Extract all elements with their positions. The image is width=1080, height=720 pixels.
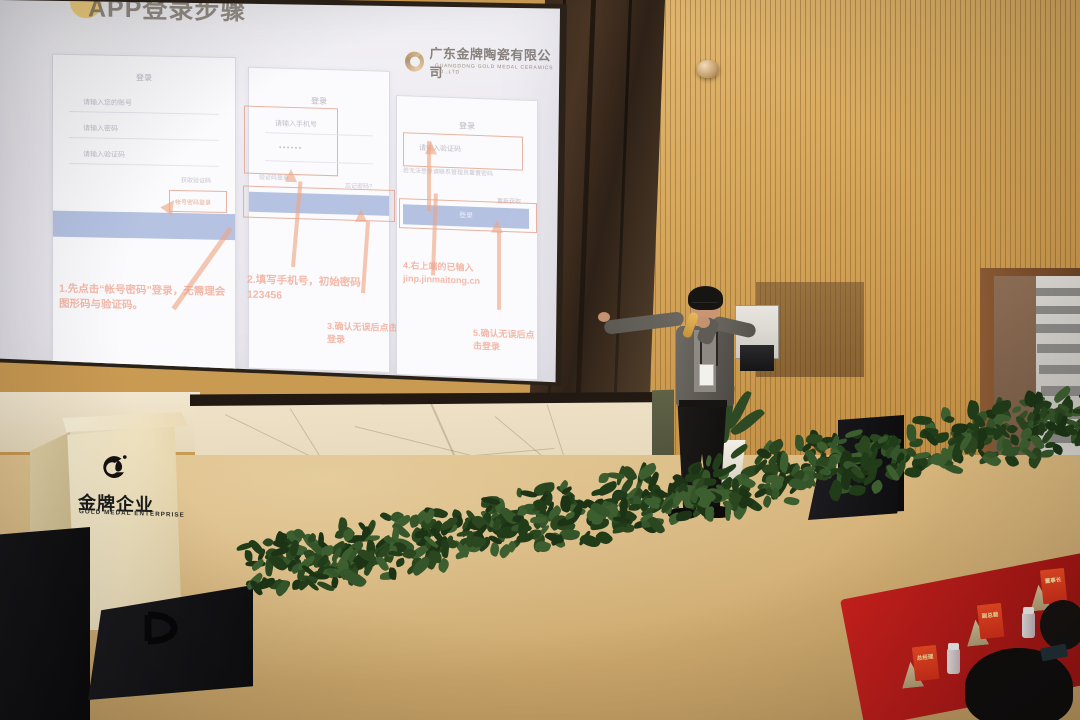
presenter-right-hand — [697, 316, 710, 328]
bottle-cap — [948, 643, 959, 650]
water-bottle — [947, 648, 960, 674]
hedge-leaf — [848, 483, 866, 497]
hedge-leaf — [388, 567, 397, 579]
photo-scene: APP登录步骤 广东金牌陶瓷有限公司 GUANGDONG GOLD MEDAL … — [0, 0, 1080, 720]
hedge-leaf — [944, 414, 955, 424]
presenter-badge — [699, 364, 714, 386]
presenter-left-hand — [598, 312, 610, 322]
hedge-leaf — [783, 495, 800, 507]
hedge-leaf — [530, 516, 547, 524]
presenter-left-arm — [603, 311, 684, 335]
table-name-card: 总经理 — [898, 645, 936, 688]
hedge-leaf — [361, 561, 374, 576]
table-name-card: 副总裁 — [963, 603, 1001, 646]
hedge-leaf — [983, 438, 993, 446]
hedge-leaf — [629, 503, 641, 511]
name-card-label: 副总裁 — [980, 612, 1001, 621]
water-bottle — [1022, 612, 1035, 638]
audience-head-second — [1040, 600, 1080, 650]
hedge-leaf — [455, 550, 470, 560]
hedge-leaf — [440, 539, 450, 557]
name-card-label: 董事长 — [1043, 577, 1064, 586]
hedge-leaf — [671, 490, 689, 506]
glasses-icon — [692, 302, 718, 309]
hedge-leaf — [395, 557, 406, 567]
hedge-leaf — [1001, 446, 1019, 457]
audience-head-foreground — [965, 648, 1073, 720]
hedge-leaf — [724, 500, 732, 521]
bottle-cap — [1023, 607, 1034, 614]
presenter-belt — [679, 400, 727, 407]
hedge-leaf — [676, 510, 693, 521]
hedge-leaf — [1012, 405, 1022, 413]
name-card-label: 总经理 — [915, 654, 936, 663]
